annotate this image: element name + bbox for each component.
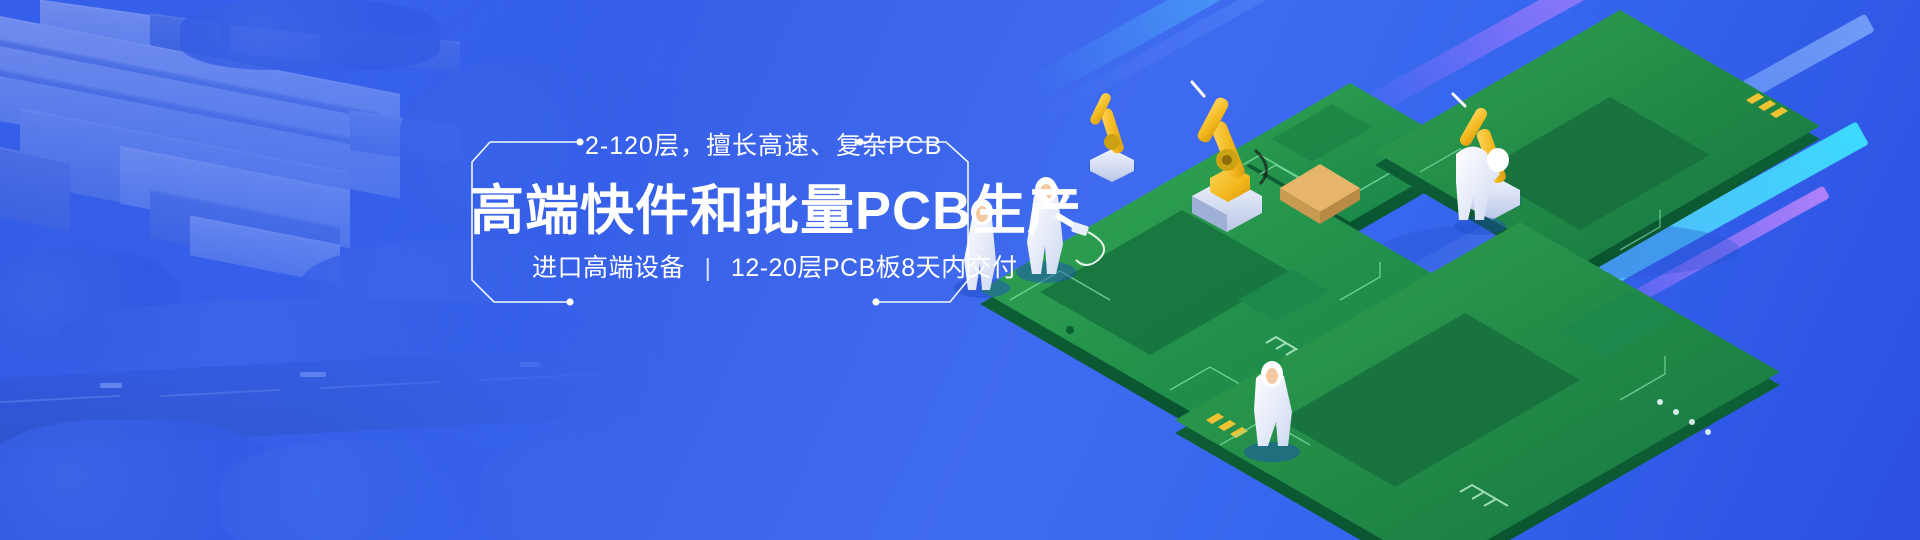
pcb-hero-banner: 2-120层，擅长高速、复杂PCB 高端快件和批量PCB生产 进口高端设备 | … [0, 0, 1920, 540]
bracket-dot-left [576, 138, 583, 145]
subtitle-bottom-left: 进口高端设备 [532, 254, 685, 282]
headline-block: 2-120层，擅长高速、复杂PCB 高端快件和批量PCB生产 进口高端设备 | … [470, 120, 970, 320]
bracket-dot-bottom-left [566, 298, 573, 305]
bracket-dot-bottom-right [872, 298, 879, 305]
robot-arm-left [1088, 91, 1136, 182]
subtitle-separator: | [704, 254, 711, 283]
subtitle-bottom-right: 12-20层PCB板8天内交付 [731, 254, 1018, 282]
page-title: 高端快件和批量PCB生产 [470, 166, 970, 245]
subtitle-top: 2-120层，擅长高速、复杂PCB [585, 126, 942, 162]
via-dot [1066, 326, 1074, 334]
subtitle-bottom: 进口高端设备 | 12-20层PCB板8天内交付 [532, 248, 1018, 284]
pcb-assembly-illustration [920, 0, 1920, 540]
